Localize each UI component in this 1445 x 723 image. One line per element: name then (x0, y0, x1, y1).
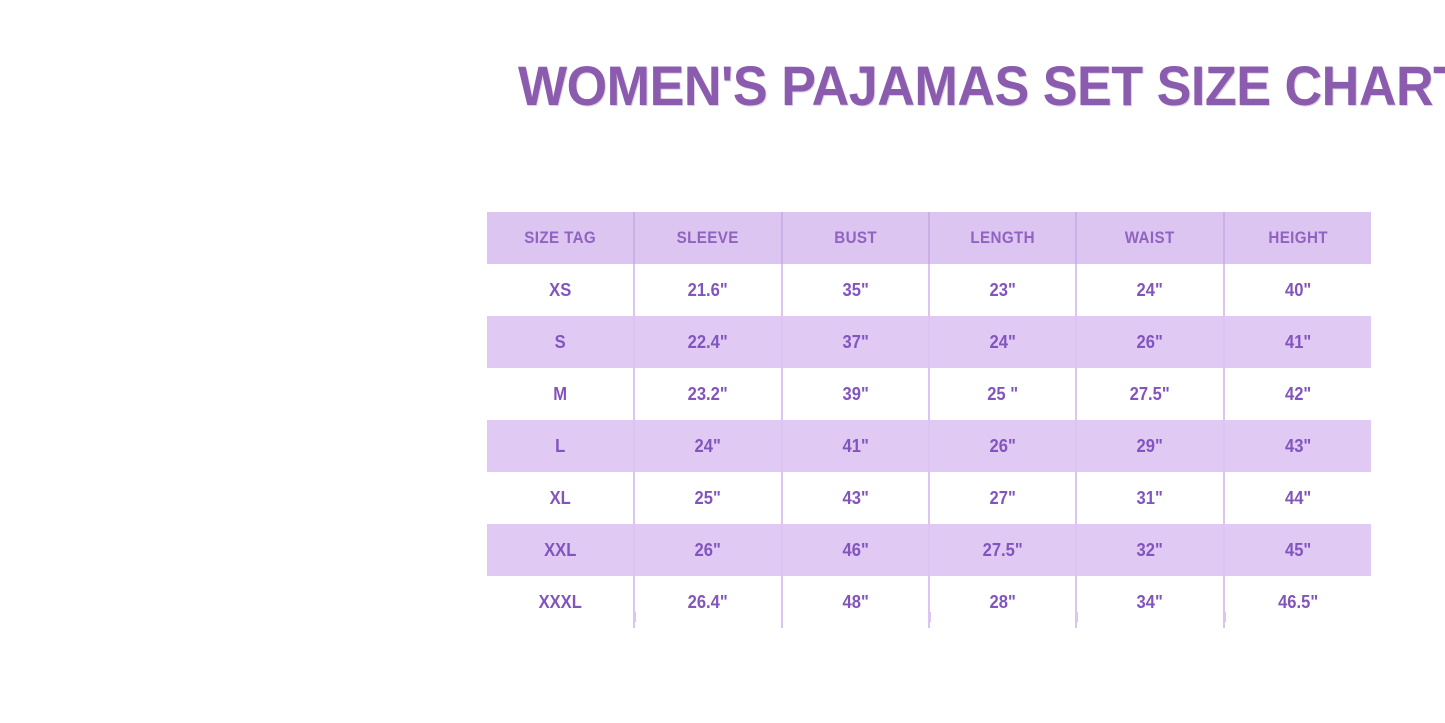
table-row: S 22.4" 37" 24" 26" 41" (487, 316, 1371, 368)
page-title: WOMEN'S PAJAMAS SET SIZE CHART (518, 55, 1340, 117)
cell-sleeve: 24" (640, 420, 776, 472)
cell-height: 44" (1230, 472, 1366, 524)
cell-waist: 32" (1082, 524, 1218, 576)
column-header-length: LENGTH (935, 212, 1071, 264)
table-row: XL 25" 43" 27" 31" 44" (487, 472, 1371, 524)
cell-bust: 37" (788, 316, 924, 368)
cell-height: 45" (1230, 524, 1366, 576)
cell-length: 26" (935, 420, 1071, 472)
cell-bust: 43" (788, 472, 924, 524)
cell-waist: 31" (1082, 472, 1218, 524)
column-divider-tail (929, 612, 931, 622)
table-row: XS 21.6" 35" 23" 24" 40" (487, 264, 1371, 316)
size-chart-container: SIZE TAG SLEEVE BUST LENGTH WAIST HEIGHT… (487, 212, 1371, 628)
cell-length: 27" (935, 472, 1071, 524)
cell-size-tag: XL (493, 472, 629, 524)
cell-height: 42" (1230, 368, 1366, 420)
cell-bust: 35" (788, 264, 924, 316)
cell-size-tag: S (493, 316, 629, 368)
cell-waist: 29" (1082, 420, 1218, 472)
cell-sleeve: 21.6" (640, 264, 776, 316)
column-divider-tail (634, 612, 636, 622)
column-divider-tail (781, 612, 783, 622)
size-chart-table: SIZE TAG SLEEVE BUST LENGTH WAIST HEIGHT… (487, 212, 1371, 628)
cell-size-tag: XS (493, 264, 629, 316)
cell-height: 43" (1230, 420, 1366, 472)
column-header-sleeve: SLEEVE (640, 212, 776, 264)
cell-bust: 46" (788, 524, 924, 576)
cell-sleeve: 25" (640, 472, 776, 524)
cell-size-tag: M (493, 368, 629, 420)
table-body: XS 21.6" 35" 23" 24" 40" S 22.4" 37" 24"… (487, 264, 1371, 628)
cell-bust: 39" (788, 368, 924, 420)
cell-waist: 27.5" (1082, 368, 1218, 420)
column-header-bust: BUST (788, 212, 924, 264)
cell-height: 41" (1230, 316, 1366, 368)
column-divider-tail (1076, 612, 1078, 622)
cell-length: 24" (935, 316, 1071, 368)
cell-length: 25 " (935, 368, 1071, 420)
column-divider-tail (1224, 612, 1226, 622)
cell-size-tag: L (493, 420, 629, 472)
cell-length: 27.5" (935, 524, 1071, 576)
table-row: XXL 26" 46" 27.5" 32" 45" (487, 524, 1371, 576)
cell-waist: 26" (1082, 316, 1218, 368)
cell-waist: 24" (1082, 264, 1218, 316)
cell-sleeve: 22.4" (640, 316, 776, 368)
table-row: M 23.2" 39" 25 " 27.5" 42" (487, 368, 1371, 420)
cell-length: 23" (935, 264, 1071, 316)
column-header-size-tag: SIZE TAG (493, 212, 629, 264)
cell-sleeve: 26" (640, 524, 776, 576)
cell-sleeve: 23.2" (640, 368, 776, 420)
cell-size-tag: XXL (493, 524, 629, 576)
cell-bust: 41" (788, 420, 924, 472)
column-header-height: HEIGHT (1230, 212, 1366, 264)
table-row: L 24" 41" 26" 29" 43" (487, 420, 1371, 472)
cell-height: 40" (1230, 264, 1366, 316)
column-divider-tails (487, 612, 1371, 622)
table-header-row: SIZE TAG SLEEVE BUST LENGTH WAIST HEIGHT (487, 212, 1371, 264)
table-header: SIZE TAG SLEEVE BUST LENGTH WAIST HEIGHT (487, 212, 1371, 264)
column-header-waist: WAIST (1082, 212, 1218, 264)
